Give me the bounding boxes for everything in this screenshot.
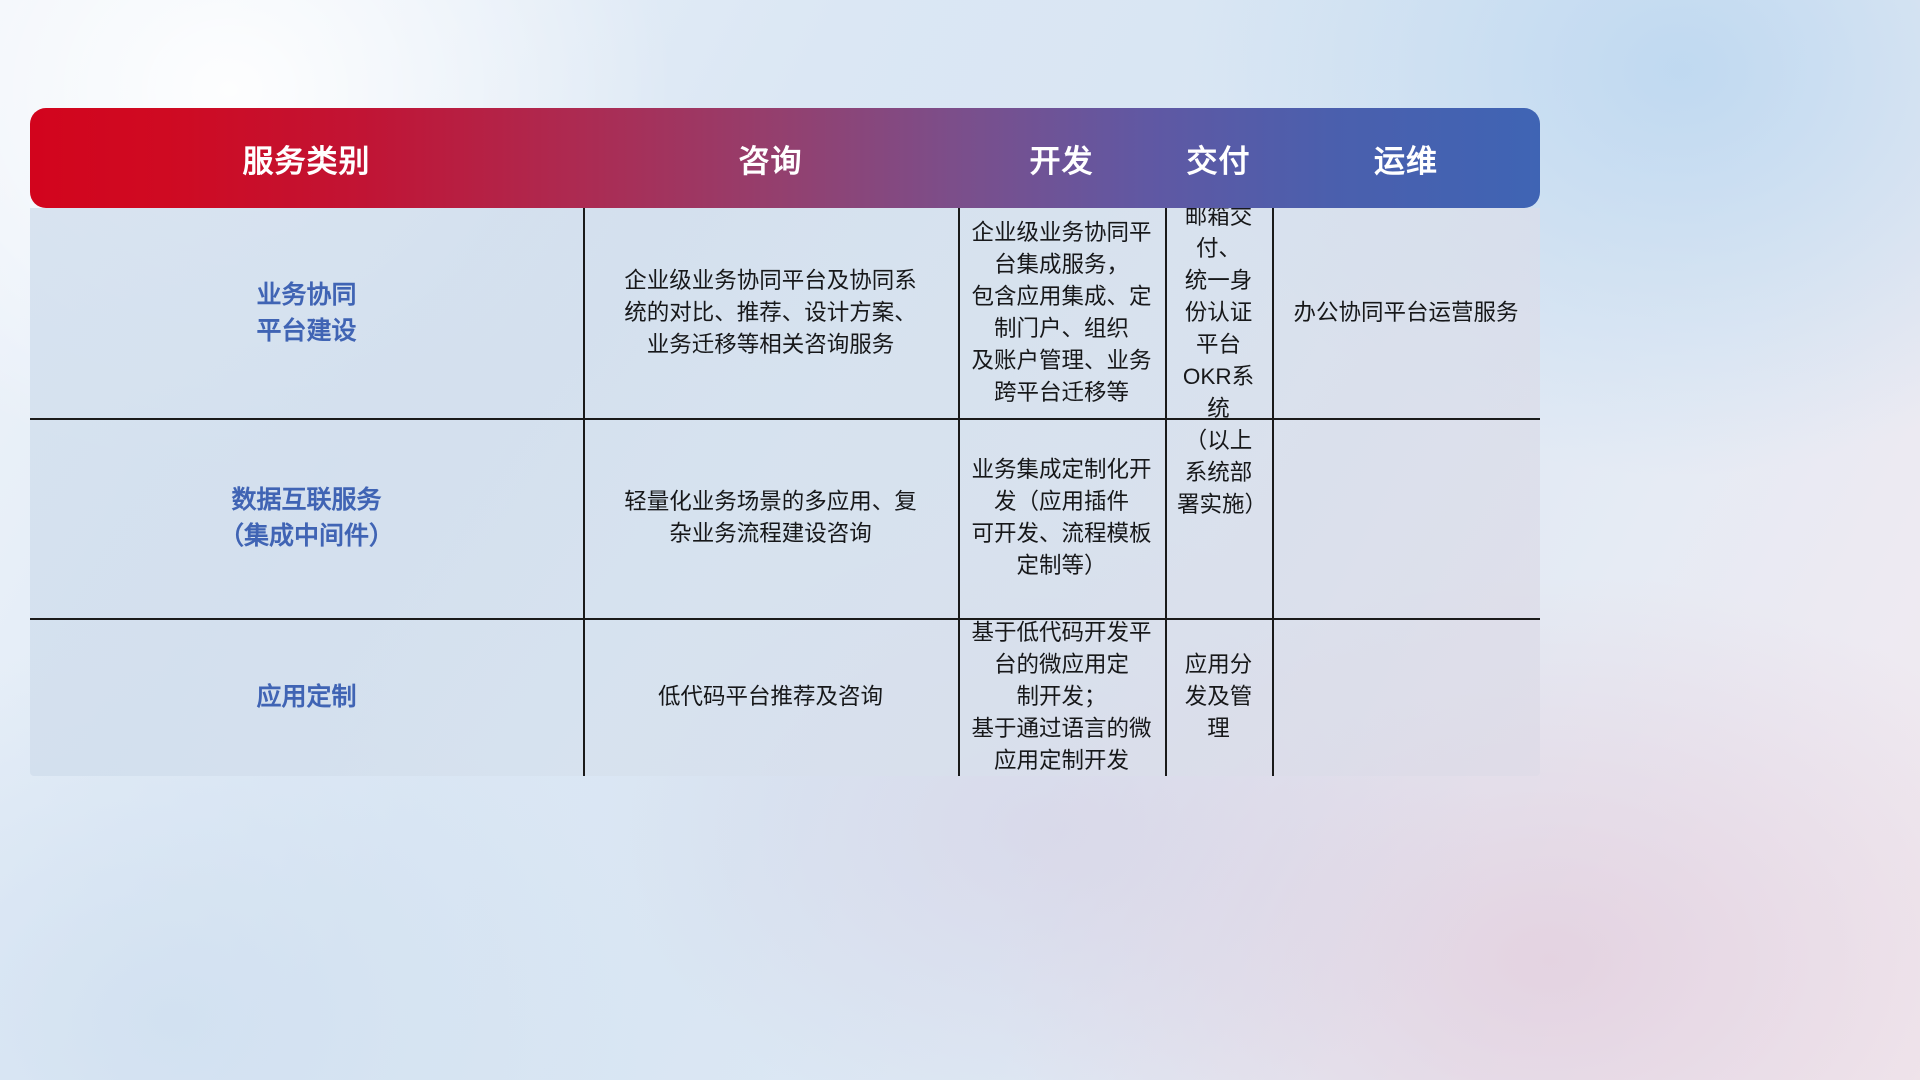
- cell-delivery-0: 项目管理平台交付 邮箱交付、 统一身份认证平台 OKR系统 （以上系统部署实施）: [1165, 208, 1272, 418]
- cell-development-0: 企业级业务协同平台集成服务， 包含应用集成、定制门户、组织 及账户管理、业务跨平…: [958, 208, 1165, 418]
- table-row: 应用定制 低代码平台推荐及咨询 基于低代码开发平台的微应用定 制开发； 基于通过…: [30, 618, 1540, 776]
- cell-development-2: 基于低代码开发平台的微应用定 制开发； 基于通过语言的微应用定制开发: [958, 618, 1165, 776]
- table-body: 业务协同 平台建设 企业级业务协同平台及协同系 统的对比、推荐、设计方案、 业务…: [30, 208, 1540, 776]
- cell-delivery-2: 应用分发及管理: [1165, 618, 1272, 776]
- table-row: 数据互联服务 （集成中间件） 轻量化业务场景的多应用、复 杂业务流程建设咨询 业…: [30, 418, 1540, 618]
- cell-operations-0: 办公协同平台运营服务: [1272, 208, 1540, 418]
- table-header-cell-development[interactable]: 开发: [958, 108, 1165, 208]
- table-header-cell-operations[interactable]: 运维: [1272, 108, 1540, 208]
- cell-consulting-1: 轻量化业务场景的多应用、复 杂业务流程建设咨询: [583, 418, 958, 618]
- table-header-cell-category[interactable]: 服务类别: [30, 108, 583, 208]
- cell-consulting-0: 企业级业务协同平台及协同系 统的对比、推荐、设计方案、 业务迁移等相关咨询服务: [583, 208, 958, 418]
- table-header-row: 服务类别 咨询 开发 交付 运维: [30, 108, 1540, 208]
- cell-consulting-2: 低代码平台推荐及咨询: [583, 618, 958, 776]
- table-header-cell-delivery[interactable]: 交付: [1165, 108, 1272, 208]
- cell-operations-2: [1272, 618, 1540, 776]
- service-category-table: 服务类别 咨询 开发 交付 运维 业务协同 平台建设 企业级业务协同平台及协同系…: [30, 108, 1540, 776]
- cell-category-1: 数据互联服务 （集成中间件）: [30, 418, 583, 618]
- cell-operations-1: [1272, 418, 1540, 618]
- cell-development-1: 业务集成定制化开发（应用插件 可开发、流程模板定制等）: [958, 418, 1165, 618]
- cell-category-2: 应用定制: [30, 618, 583, 776]
- table-header-cell-consulting[interactable]: 咨询: [583, 108, 958, 208]
- cell-category-0: 业务协同 平台建设: [30, 208, 583, 418]
- table-row: 业务协同 平台建设 企业级业务协同平台及协同系 统的对比、推荐、设计方案、 业务…: [30, 208, 1540, 418]
- cell-delivery-1: [1165, 418, 1272, 618]
